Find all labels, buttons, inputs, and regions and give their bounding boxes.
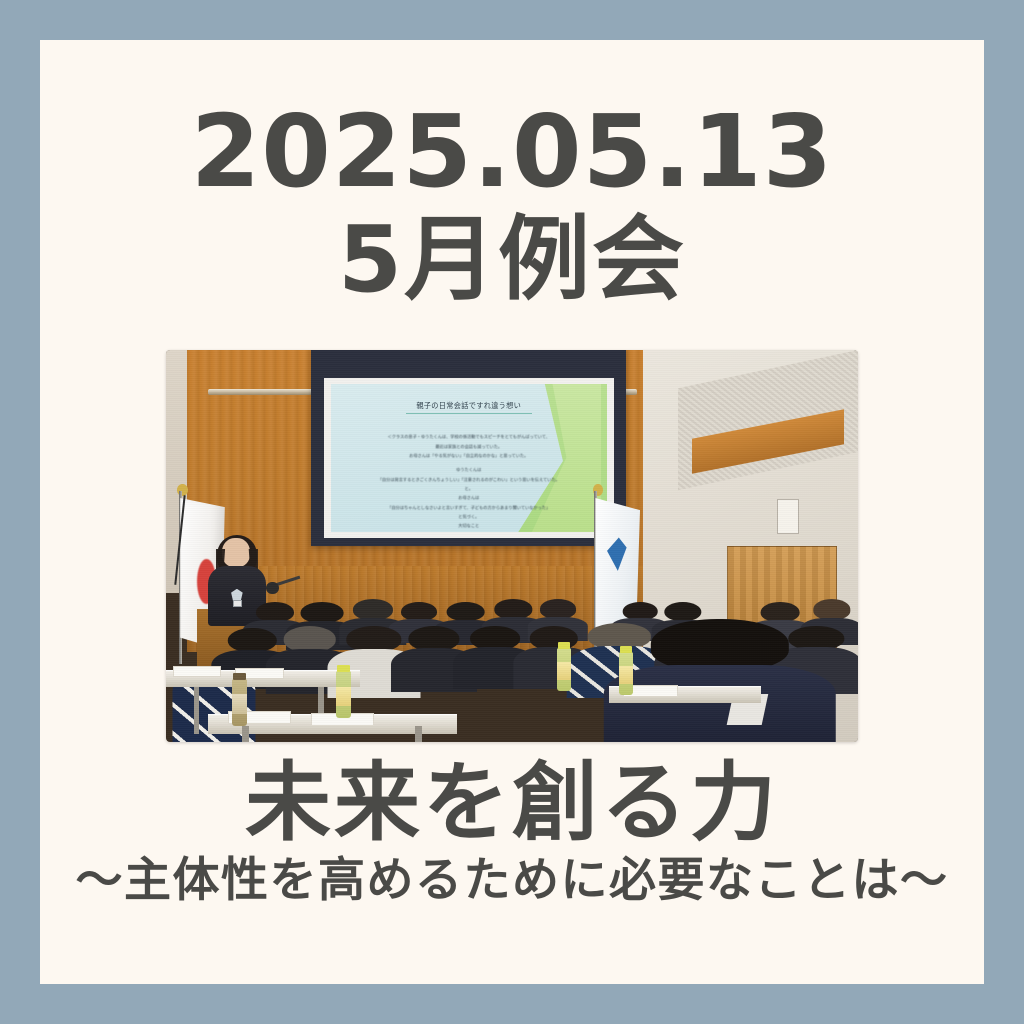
slide-body: ＜クラスの息子・ゆうたくんは、学校の係活動でもスピーチをとてもがんばっていて、 …: [347, 433, 590, 531]
handout-paper: [173, 666, 221, 678]
drink-bottle: [232, 679, 247, 726]
event-sub-title: ～主体性を高めるために必要なことは～: [40, 855, 984, 907]
person-head: [540, 599, 576, 618]
drink-bottle: [336, 671, 351, 718]
slide-line: お母さんは: [347, 494, 590, 501]
slide-title: 親子の日常会話ですれ違う想い: [347, 401, 590, 411]
slide-line: と。: [347, 485, 590, 492]
drink-bottle: [619, 652, 633, 695]
bottle-label: [557, 662, 571, 680]
person-head: [529, 626, 577, 650]
bottle-label: [619, 666, 633, 684]
bottle-cap: [558, 642, 570, 649]
headline-block: 2025.05.13 5月例会: [40, 40, 984, 309]
person-head: [228, 628, 276, 653]
person-head: [495, 599, 532, 619]
event-photo: 親子の日常会話ですれ違う想い ＜クラスの息子・ゆうたくんは、学校の係活動でもスピ…: [166, 350, 858, 742]
person-head: [353, 599, 393, 620]
table-leg: [415, 726, 422, 742]
person-head: [301, 602, 344, 623]
slide-line: 大切なこと: [347, 522, 590, 529]
audience-person: [408, 626, 459, 692]
projector-screen-surface: 親子の日常会話ですれ違う想い ＜クラスの息子・ゆうたくんは、学校の係活動でもスピ…: [324, 378, 614, 538]
slide-line: お母さんは「やる気がない」「自立的なのかな」と思っていた。: [347, 452, 590, 459]
bottle-cap: [337, 665, 350, 673]
person-head: [623, 602, 658, 620]
photo-scene: 親子の日常会話ですれ違う想い ＜クラスの息子・ゆうたくんは、学校の係活動でもスピ…: [166, 350, 858, 742]
person-head: [284, 626, 337, 652]
poster-inner-panel: 2025.05.13 5月例会: [40, 40, 984, 984]
person-head: [650, 619, 788, 671]
person-head: [256, 602, 294, 622]
table-leg: [194, 687, 200, 734]
bottle-cap: [620, 646, 632, 653]
drink-bottle: [557, 648, 571, 691]
bottle-cap: [233, 673, 246, 681]
table-leg: [242, 726, 249, 742]
poster-root: 2025.05.13 5月例会: [0, 0, 1024, 1024]
event-date: 2025.05.13: [40, 102, 984, 202]
slide-line: 最近は家族との会話も減っていた。: [347, 443, 590, 450]
presentation-slide: 親子の日常会話ですれ違う想い ＜クラスの息子・ゆうたくんは、学校の係活動でもスピ…: [331, 384, 607, 531]
slide-line: と気づく。: [347, 513, 590, 520]
slide-title-underline: [406, 413, 532, 414]
bottle-label: [232, 694, 247, 714]
slide-line: 「自分はちゃんとしなさいよと言いすぎて、子どもの方からあまり聞いていなかった」: [347, 504, 590, 511]
slide-line: ＜クラスの息子・ゆうたくんは、学校の係活動でもスピーチをとてもがんばっていて、: [347, 433, 590, 440]
person-head: [813, 599, 850, 619]
person-head: [401, 602, 437, 621]
footer-block: 未来を創る力 ～主体性を高めるために必要なことは～: [40, 758, 984, 907]
slide-line: 「自分は発言するときごくきんちょうしい」「注意されるのがこわい」という思いを伝え…: [347, 476, 590, 483]
projector-screen: 親子の日常会話ですれ違う想い ＜クラスの息子・ゆうたくんは、学校の係活動でもスピ…: [311, 350, 626, 546]
person-head: [470, 626, 520, 650]
event-main-title: 未来を創る力: [40, 758, 984, 849]
bottle-label: [336, 687, 351, 707]
audience-group: [166, 522, 858, 742]
slide-line: ゆうたくんは: [347, 466, 590, 473]
meeting-name: 5月例会: [40, 212, 984, 309]
person-head: [346, 626, 401, 652]
person-head: [446, 602, 485, 622]
person-head: [408, 626, 459, 651]
